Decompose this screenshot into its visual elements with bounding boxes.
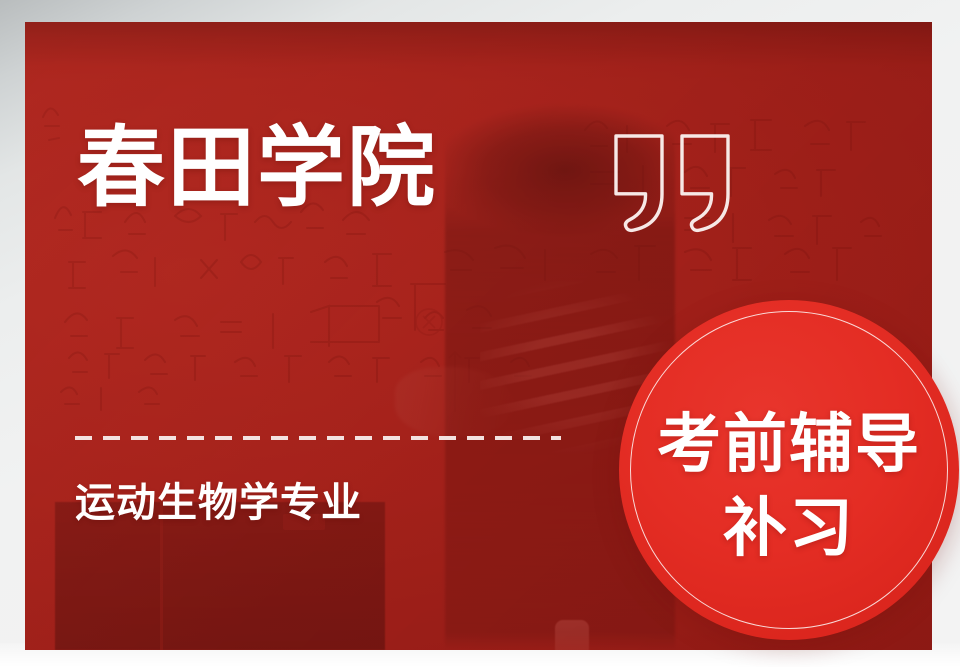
page-title: 春田学院 [77,123,437,214]
banner-canvas: 春田学院 运动生物学专业 考前辅导 补习 [0,0,960,667]
page-subtitle: 运动生物学专业 [75,480,362,526]
dashed-divider [75,436,561,440]
quote-mark-icon [610,130,738,236]
badge-line-secondary: 补习 [619,496,959,560]
badge-line-primary: 考前辅导 [619,412,959,476]
promo-badge[interactable]: 考前辅导 补习 [619,300,959,640]
